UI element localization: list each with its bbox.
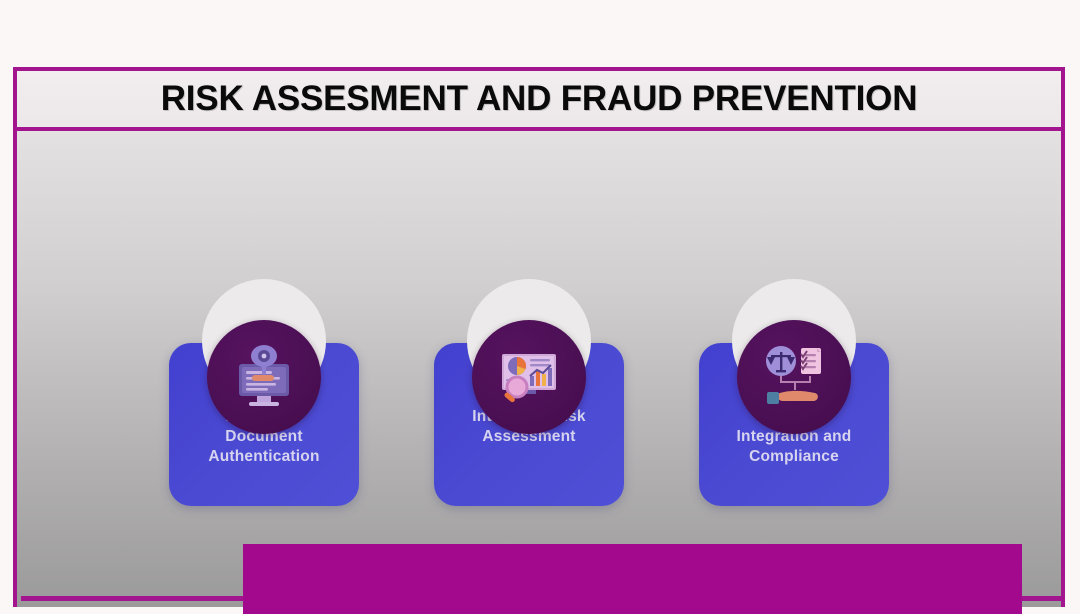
scales-checklist-hand-icon	[737, 320, 851, 434]
feature-card-label-line-3: Compliance	[707, 447, 881, 467]
slide-frame: RISK ASSESMENT AND FRAUD PREVENTION Adva…	[13, 67, 1065, 607]
dashboard-chart-magnifier-icon	[472, 320, 586, 434]
feature-card-label-line-3: Authentication	[177, 447, 351, 467]
bottom-magenta-block	[243, 544, 1022, 614]
scales-checklist-hand-icon-glyph	[757, 340, 831, 414]
monitor-document-eye-icon	[207, 320, 321, 434]
slide-content-panel: Advanced Document Authentication Intelli…	[13, 130, 1065, 607]
page-title: RISK ASSESMENT AND FRAUD PREVENTION	[161, 79, 918, 119]
dashboard-chart-magnifier-icon-glyph	[492, 340, 566, 414]
feature-cards-row: Advanced Document Authentication Intelli…	[17, 130, 1065, 607]
slide-title-bar: RISK ASSESMENT AND FRAUD PREVENTION	[13, 67, 1065, 131]
monitor-document-eye-icon-glyph	[227, 340, 301, 414]
